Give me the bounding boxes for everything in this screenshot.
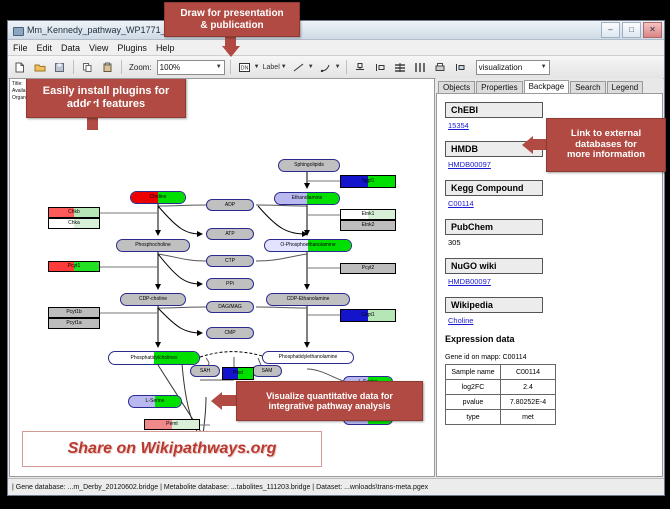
node-label: PPi xyxy=(226,282,234,287)
tab-objects[interactable]: Objects xyxy=(438,81,475,93)
node-label: Etnk2 xyxy=(362,223,375,228)
menu-item-view[interactable]: View xyxy=(89,43,108,53)
visualization-combo[interactable]: visualization ▼ xyxy=(476,60,550,75)
node-label: Cept1 xyxy=(361,313,374,318)
zoom-value: 100% xyxy=(160,63,180,72)
db-link-nugo-wiki[interactable]: HMDB00097 xyxy=(448,277,654,286)
label-tool-label: Label xyxy=(263,64,280,71)
metabolite-node-adp[interactable]: ADP xyxy=(206,199,254,211)
node-label: Pcyt2 xyxy=(362,266,375,271)
datanode-dropdown[interactable]: DN ▼ xyxy=(236,59,260,76)
co-link-line-3: more information xyxy=(567,150,645,161)
menu-item-help[interactable]: Help xyxy=(156,43,175,53)
line-dropdown[interactable]: ▼ xyxy=(290,59,314,76)
callout-link-arrow xyxy=(522,136,533,154)
expression-row-value: 7.80252E-4 xyxy=(501,395,556,410)
distribute-icon[interactable] xyxy=(412,59,429,76)
co-visualize-line-1: Visualize quantitative data for xyxy=(266,391,393,401)
node-label: CDP-Ethanolamine xyxy=(287,297,330,302)
callout-plugins: Easily install plugins foradded features xyxy=(26,78,186,118)
window-controls: – □ ✕ xyxy=(601,22,662,38)
chevron-down-icon: ▼ xyxy=(216,64,222,70)
metabolite-node-ctp[interactable]: CTP xyxy=(206,255,254,267)
node-label: Chkb xyxy=(68,210,80,215)
gene-node-chka[interactable]: Chka xyxy=(48,218,100,229)
node-label: CTP xyxy=(225,259,235,264)
stack-icon[interactable] xyxy=(392,59,409,76)
node-label: O-Phosphoethanolamine xyxy=(280,243,335,248)
metabolite-node-o-phosphoethanolamine[interactable]: O-Phosphoethanolamine xyxy=(264,239,352,252)
metabolite-node-cdp-choline[interactable]: CDP-choline xyxy=(120,293,186,306)
close-button[interactable]: ✕ xyxy=(643,22,662,38)
expression-row-label: pvalue xyxy=(446,395,501,410)
gene-node-etnk2[interactable]: Etnk2 xyxy=(340,220,396,231)
tab-legend[interactable]: Legend xyxy=(607,81,644,93)
metabolite-node-phosphatidylcholine[interactable]: Phosphatidylcholines xyxy=(108,351,200,365)
node-label: Pisd xyxy=(233,371,243,376)
callout-visualize-arrow xyxy=(211,392,222,410)
order-icon[interactable] xyxy=(452,59,469,76)
callout-link: Link to externaldatabases formore inform… xyxy=(546,118,666,172)
metabolite-node-dagmag[interactable]: DAG/MAG xyxy=(206,301,254,313)
db-header-kegg-compound: Kegg Compound xyxy=(445,180,543,196)
paste-icon[interactable] xyxy=(99,59,116,76)
metabolite-node-sam[interactable]: SAM xyxy=(252,365,282,377)
node-label: DAG/MAG xyxy=(218,305,242,310)
callout-draw-arrow xyxy=(222,46,240,57)
metabolite-node-cmp[interactable]: CMP xyxy=(206,327,254,339)
callout-visualize: Visualize quantitative data forintegrati… xyxy=(236,381,423,421)
menu-bar: File Edit Data View Plugins Help xyxy=(8,40,664,56)
expression-row-value: C00114 xyxy=(501,365,556,380)
gene-node-pcyt2[interactable]: Pcyt2 xyxy=(340,263,396,274)
db-header-chebi: ChEBI xyxy=(445,102,543,118)
gene-node-cept1[interactable]: Cept1 xyxy=(340,309,396,322)
co-plugins-line-1: Easily install plugins for xyxy=(43,85,170,98)
toolbar-separator-2 xyxy=(121,60,122,74)
status-bar: | Gene database: ...m_Derby_20120602.bri… xyxy=(8,478,664,495)
share-banner-text: Share on Wikipathways.org xyxy=(68,440,277,458)
co-link-line-1: Link to external xyxy=(571,129,641,140)
side-panel-tabs: ObjectsPropertiesBackpageSearchLegend xyxy=(436,78,663,93)
node-label: Sgpl1 xyxy=(362,179,375,184)
visualization-value: visualization xyxy=(479,63,523,72)
table-row: Sample nameC00114 xyxy=(446,365,556,380)
menu-item-plugins[interactable]: Plugins xyxy=(117,43,147,53)
callout-plugins-arrow xyxy=(83,101,101,112)
chevron-down-icon-label: ▼ xyxy=(281,64,287,70)
node-label: Pcyt1 xyxy=(68,264,81,269)
metabolite-node-phosphatidylethanolamine[interactable]: Phosphatidylethanolamine xyxy=(262,351,354,364)
gene-id-line: Gene id on mapp: C00114 xyxy=(445,354,654,361)
chevron-down-icon-vis: ▼ xyxy=(541,64,547,70)
metabolite-node-atp[interactable]: ATP xyxy=(206,228,254,240)
label-dropdown[interactable]: Label ▼ xyxy=(263,64,287,71)
chevron-down-icon-line: ▼ xyxy=(308,64,314,70)
node-label: Choline xyxy=(150,195,167,200)
gene-node-sgpl1[interactable]: Sgpl1 xyxy=(340,175,396,188)
node-label: Chka xyxy=(68,221,80,226)
gene-node-pisd-small[interactable]: Pisd xyxy=(222,367,254,380)
app-icon xyxy=(12,25,23,36)
node-label: Phosphatidylcholines xyxy=(131,356,178,361)
svg-text:DN: DN xyxy=(240,65,248,71)
toolbar: Zoom: 100% ▼ DN ▼ Label ▼ ▼ xyxy=(8,56,664,79)
node-label: CMP xyxy=(224,331,235,336)
co-visualize-line-2: integrative pathway analysis xyxy=(268,401,390,411)
zoom-label: Zoom: xyxy=(129,63,152,72)
expression-table: Sample nameC00114log2FC2.4pvalue7.80252E… xyxy=(445,364,556,425)
toolbar-separator-3 xyxy=(230,60,231,74)
db-header-nugo-wiki: NuGO wiki xyxy=(445,258,543,274)
chevron-down-icon-datanode: ▼ xyxy=(254,64,260,70)
table-row: typemet xyxy=(446,410,556,425)
expression-row-value: 2.4 xyxy=(501,380,556,395)
expression-row-label: Sample name xyxy=(446,365,501,380)
node-label: Pemt xyxy=(166,422,178,427)
align-left-icon[interactable] xyxy=(372,59,389,76)
callout-draw: Draw for presentation& publication xyxy=(164,2,300,37)
gene-node-pemt[interactable]: Pemt xyxy=(144,419,200,430)
node-label: Ethanolamine xyxy=(292,196,323,201)
node-label: SAH xyxy=(200,369,210,374)
screenshot-root: Mm_Kennedy_pathway_WP1771_45176.gpml – □… xyxy=(0,0,670,509)
table-row: log2FC2.4 xyxy=(446,380,556,395)
save-icon[interactable] xyxy=(51,59,68,76)
table-row: pvalue7.80252E-4 xyxy=(446,395,556,410)
metabolite-node-phosphocholine[interactable]: Phosphocholine xyxy=(116,239,190,252)
toolbar-separator xyxy=(73,60,74,74)
node-label: ADP xyxy=(225,203,235,208)
node-label: L-Serine xyxy=(146,399,165,404)
tab-properties[interactable]: Properties xyxy=(476,81,522,93)
open-folder-icon[interactable] xyxy=(31,59,48,76)
db-header-wikipedia: Wikipedia xyxy=(445,297,543,313)
db-value-pubchem: 305 xyxy=(448,238,654,247)
node-label: SAM xyxy=(262,369,273,374)
menu-item-edit[interactable]: Edit xyxy=(37,43,53,53)
metabolite-node-sphingolipids[interactable]: Sphingolipids xyxy=(278,159,340,172)
node-label: Etnk1 xyxy=(362,212,375,217)
db-link-wikipedia[interactable]: Choline xyxy=(448,316,654,325)
node-label: Phosphatidylethanolamine xyxy=(279,355,338,360)
node-label: CDP-choline xyxy=(139,297,167,302)
tab-backpage[interactable]: Backpage xyxy=(524,80,570,93)
gene-node-chkb[interactable]: Chkb xyxy=(48,207,100,218)
gene-node-pcyt1[interactable]: Pcyt1 xyxy=(48,261,100,272)
application-window: Mm_Kennedy_pathway_WP1771_45176.gpml – □… xyxy=(7,20,665,496)
expression-data-title: Expression data xyxy=(445,334,654,344)
db-header-pubchem: PubChem xyxy=(445,219,543,235)
node-label: Pcyt1b xyxy=(66,310,81,315)
metabolite-node-cdp-ethanolamine[interactable]: CDP-Ethanolamine xyxy=(266,293,350,306)
zoom-combo[interactable]: 100% ▼ xyxy=(157,60,225,75)
co-draw-line-2: & publication xyxy=(200,20,263,32)
expression-row-label: type xyxy=(446,410,501,425)
arc-icon[interactable] xyxy=(317,59,334,76)
datanode-icon[interactable]: DN xyxy=(236,59,253,76)
gene-node-pcyt1a[interactable]: Pcyt1a xyxy=(48,318,100,329)
expression-row-value: met xyxy=(501,410,556,425)
arc-dropdown[interactable]: ▼ xyxy=(317,59,341,76)
menu-item-data[interactable]: Data xyxy=(61,43,80,53)
toolbar-separator-4 xyxy=(346,60,347,74)
expression-row-label: log2FC xyxy=(446,380,501,395)
copy-icon[interactable] xyxy=(79,59,96,76)
chevron-down-icon-arc: ▼ xyxy=(335,64,341,70)
metabolite-node-ppi[interactable]: PPi xyxy=(206,278,254,290)
metabolite-node-l-serine-left[interactable]: L-Serine xyxy=(128,395,182,408)
menu-item-file[interactable]: File xyxy=(13,43,28,53)
node-label: ATP xyxy=(225,232,234,237)
new-file-icon[interactable] xyxy=(11,59,28,76)
line-icon[interactable] xyxy=(290,59,307,76)
node-label: Phosphocholine xyxy=(135,243,171,248)
node-label: Pcyt1a xyxy=(66,321,81,326)
gene-node-pcyt1b[interactable]: Pcyt1b xyxy=(48,307,100,318)
title-bar: Mm_Kennedy_pathway_WP1771_45176.gpml – □… xyxy=(8,21,664,40)
node-label: Sphingolipids xyxy=(294,163,324,168)
minimize-button[interactable]: – xyxy=(601,22,620,38)
align-top-icon[interactable] xyxy=(352,59,369,76)
maximize-button[interactable]: □ xyxy=(622,22,641,38)
share-banner: Share on Wikipathways.org xyxy=(22,431,322,467)
pathway-canvas[interactable]: Title: Availa Organi xyxy=(9,78,435,477)
co-draw-line-1: Draw for presentation xyxy=(180,8,283,20)
db-link-kegg-compound[interactable]: C00114 xyxy=(448,199,654,208)
metabolite-node-sah[interactable]: SAH xyxy=(190,365,220,377)
metabolite-node-ethanolamine[interactable]: Ethanolamine xyxy=(274,192,340,205)
status-text: | Gene database: ...m_Derby_20120602.bri… xyxy=(12,484,428,491)
tab-search[interactable]: Search xyxy=(570,81,605,93)
gene-node-etnk1[interactable]: Etnk1 xyxy=(340,209,396,220)
metabolite-node-choline[interactable]: Choline xyxy=(130,191,186,204)
print-icon[interactable] xyxy=(432,59,449,76)
co-plugins-line-2: added features xyxy=(67,98,145,111)
